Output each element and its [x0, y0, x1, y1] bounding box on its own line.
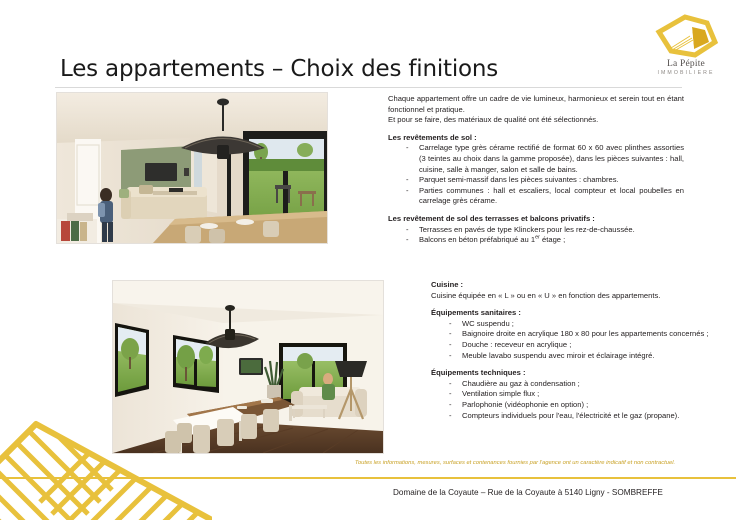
- content-column-upper: Chaque appartement offre un cadre de vie…: [388, 94, 684, 246]
- chevron-stripes-icon: [0, 412, 212, 520]
- intro-line-1: Chaque appartement offre un cadre de vie…: [388, 94, 684, 115]
- list-item: Compteurs individuels pour l'eau, l'élec…: [431, 411, 716, 422]
- section-heading-techniques: Équipements techniques :: [431, 368, 716, 379]
- section-heading-cuisine: Cuisine :: [431, 280, 716, 291]
- legal-disclaimer: Toutes les informations, mesures, surfac…: [305, 459, 725, 467]
- brand-logo: La Pépite IMMOBILIERE: [645, 14, 727, 80]
- list-item: Terrasses en pavés de type Klinckers pou…: [388, 225, 684, 236]
- content-column-lower: Cuisine : Cuisine équipée en « L » ou en…: [431, 280, 716, 421]
- logo-subtitle: IMMOBILIERE: [645, 70, 727, 77]
- list-item: Balcons en béton préfabriqué au 1er étag…: [388, 235, 684, 246]
- list-item: Parlophonie (vidéophonie en option) ;: [431, 400, 716, 411]
- list-item: Carrelage type grès cérame rectifié de f…: [388, 143, 684, 175]
- page-title: Les appartements – Choix des finitions: [60, 56, 498, 82]
- gold-striped-chevron: [0, 412, 212, 520]
- list-item: Chaudière au gaz à condensation ;: [431, 379, 716, 390]
- list-item: Baignoire droite en acrylique 180 x 80 p…: [431, 329, 716, 340]
- list-revetements-sol: Carrelage type grès cérame rectifié de f…: [388, 143, 684, 207]
- intro-line-2: Et pour se faire, des matériaux de quali…: [388, 115, 684, 126]
- list-item: Parties communes : hall et escaliers, lo…: [388, 186, 684, 207]
- cuisine-text: Cuisine équipée en « L » ou en « U » en …: [431, 291, 716, 302]
- photo-top-render: [57, 93, 327, 243]
- section-heading-terrasses-balcons: Les revêtement de sol des terrasses et b…: [388, 214, 684, 225]
- list-item: Parquet semi-massif dans les pièces suiv…: [388, 175, 684, 186]
- section-heading-sanitaires: Équipements sanitaires :: [431, 308, 716, 319]
- slide-page: La Pépite IMMOBILIERE Les appartements –…: [0, 0, 736, 520]
- list-techniques: Chaudière au gaz à condensation ; Ventil…: [431, 379, 716, 421]
- footer-address: Domaine de la Coyaute – Rue de la Coyaut…: [393, 487, 663, 499]
- list-terrasses-balcons: Terrasses en pavés de type Klinckers pou…: [388, 225, 684, 246]
- photo-living-dining-top: [57, 93, 327, 243]
- list-item: Meuble lavabo suspendu avec miroir et éc…: [431, 351, 716, 362]
- list-item: Douche : receveur en acrylique ;: [431, 340, 716, 351]
- list-item: WC suspendu ;: [431, 319, 716, 330]
- logo-name: La Pépite: [645, 59, 727, 69]
- ordinal-suffix: er: [535, 235, 540, 241]
- section-heading-revetements-sol: Les revêtements de sol :: [388, 133, 684, 144]
- list-item-text-balcon: Balcons en béton préfabriqué au 1er étag…: [419, 235, 565, 244]
- nugget-gem-icon: [645, 14, 727, 58]
- list-item: Ventilation simple flux ;: [431, 389, 716, 400]
- list-sanitaires: WC suspendu ; Baignoire droite en acryli…: [431, 319, 716, 361]
- title-divider: [55, 87, 682, 88]
